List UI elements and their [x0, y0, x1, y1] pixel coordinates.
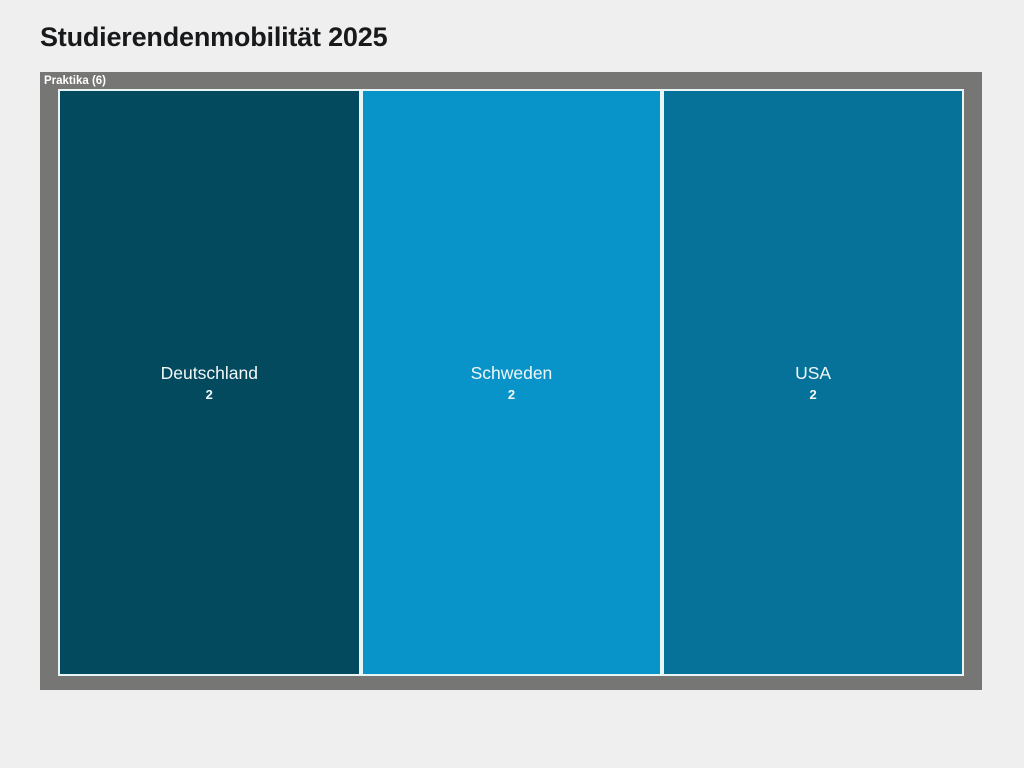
- tile-label: Deutschland: [161, 363, 258, 383]
- page-title: Studierendenmobilität 2025: [40, 22, 387, 53]
- treemap-tile[interactable]: USA 2: [662, 89, 964, 676]
- treemap-tile[interactable]: Schweden 2: [361, 89, 663, 676]
- treemap-tile[interactable]: Deutschland 2: [58, 89, 361, 676]
- tile-value: 2: [508, 388, 515, 402]
- tile-value: 2: [810, 388, 817, 402]
- treemap-page: Studierendenmobilität 2025 Praktika (6) …: [0, 0, 1024, 768]
- treemap-plot-area: Deutschland 2 Schweden 2 USA 2: [58, 89, 964, 676]
- tile-label: Schweden: [471, 363, 553, 383]
- treemap-group-container: Praktika (6) Deutschland 2 Schweden 2 US…: [40, 72, 982, 690]
- tile-label: USA: [795, 363, 831, 383]
- group-header-label: Praktika (6): [44, 74, 106, 88]
- tile-value: 2: [206, 388, 213, 402]
